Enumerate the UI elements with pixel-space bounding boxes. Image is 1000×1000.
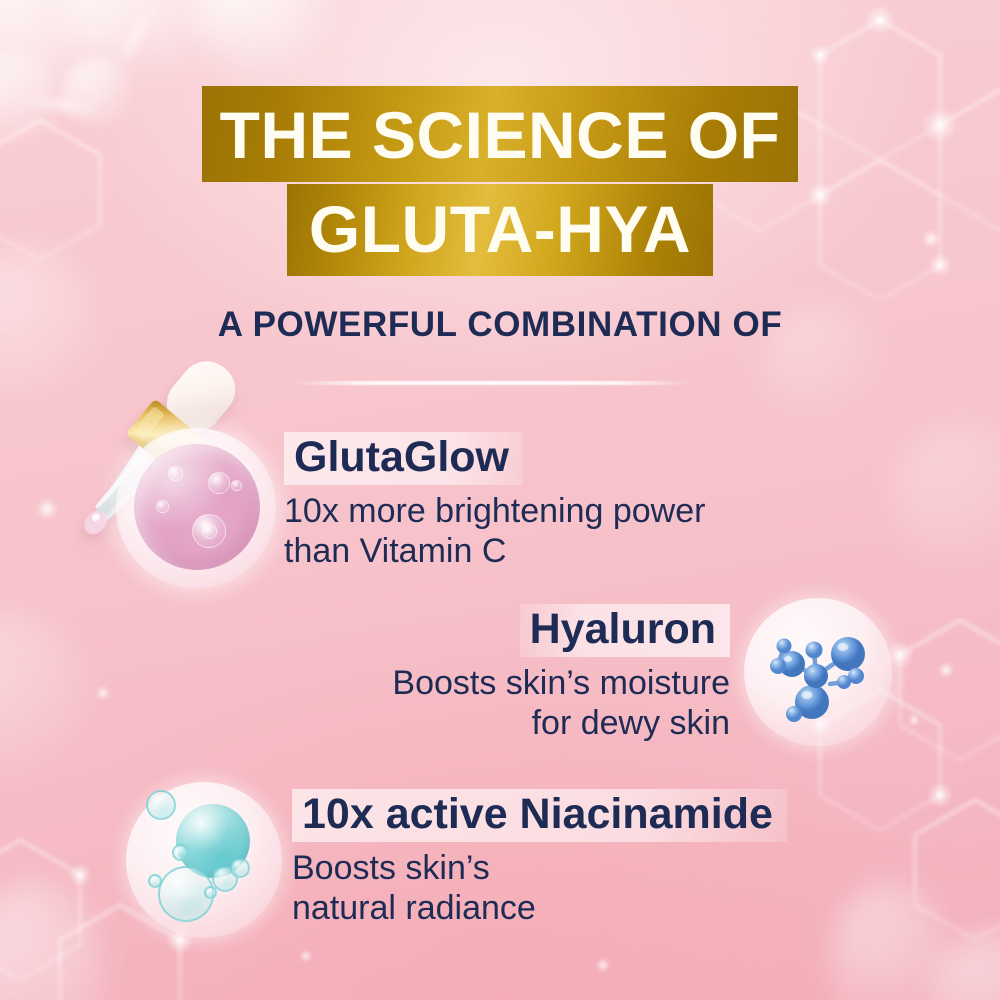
page-title: THE SCIENCE OF GLUTA-HYA (0, 86, 1000, 276)
ingredient-description: Boosts skin’s moisture for dewy skin (300, 663, 730, 743)
serum-drop-circle-icon (116, 428, 276, 588)
ingredient-niacinamide: 10x active Niacinamide Boosts skin’s nat… (292, 789, 787, 928)
ingredient-description: 10x more brightening power than Vitamin … (284, 491, 705, 571)
ingredient-name: 10x active Niacinamide (292, 789, 787, 842)
title-line-2: GLUTA-HYA (287, 184, 713, 276)
ingredient-description: Boosts skin’s natural radiance (292, 848, 787, 928)
ingredient-name: GlutaGlow (284, 432, 523, 485)
product-infographic-poster: THE SCIENCE OF GLUTA-HYA A POWERFUL COMB… (0, 0, 1000, 1000)
water-bubbles-circle-icon (126, 782, 282, 938)
title-line-1: THE SCIENCE OF (202, 86, 799, 182)
ingredient-hyaluron: Hyaluron Boosts skin’s moisture for dewy… (300, 604, 730, 743)
ingredient-glutaglow: GlutaGlow 10x more brightening power tha… (284, 432, 705, 571)
ingredient-name: Hyaluron (520, 604, 730, 657)
horizontal-divider-icon (290, 381, 690, 385)
molecule-circle-icon (744, 598, 892, 746)
